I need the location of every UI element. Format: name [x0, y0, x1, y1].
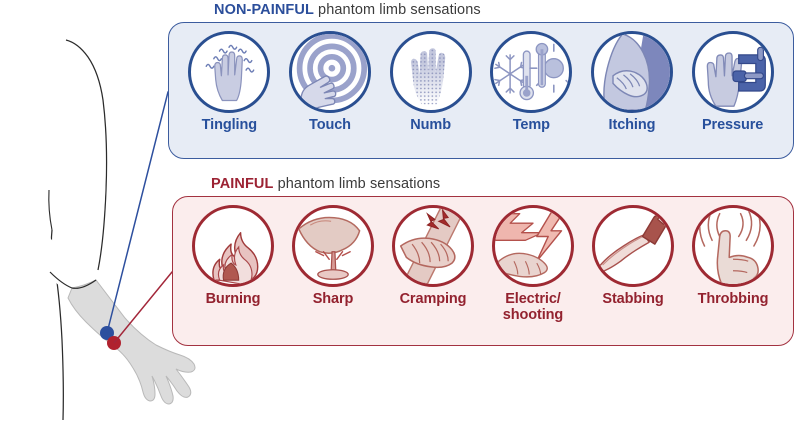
sensation-label: Throbbing — [698, 292, 769, 308]
panel-painful-sensations: Burning Sharp — [172, 196, 794, 346]
heading-painful: PAINFUL phantom limb sensations — [211, 176, 440, 192]
sensation-label-line1: Electric/ — [505, 291, 561, 307]
knife-icon — [592, 205, 674, 287]
hand-gripping-forearm-icon — [392, 205, 474, 287]
heading-nonpainful: NON-PAINFUL phantom limb sensations — [214, 2, 481, 18]
sensation-item-burning[interactable]: Burning — [183, 205, 283, 308]
sensation-label: Itching — [609, 118, 656, 134]
fingertip-on-pin-icon — [292, 205, 374, 287]
heading-nonpainful-keyword: NON-PAINFUL — [214, 2, 314, 18]
hand-scratching-arm-icon — [591, 31, 673, 113]
heading-painful-keyword: PAINFUL — [211, 176, 273, 192]
lightning-bolt-hand-icon — [492, 205, 574, 287]
sensation-label-line2: shooting — [503, 308, 563, 324]
sensation-label: Burning — [206, 292, 261, 308]
sensation-label: Temp — [513, 118, 550, 134]
panel-nonpainful-sensations: Tingling Touch — [168, 22, 794, 159]
sensation-item-tingling[interactable]: Tingling — [179, 31, 279, 134]
heading-nonpainful-rest: phantom limb sensations — [314, 2, 481, 18]
sensation-item-itching[interactable]: Itching — [582, 31, 682, 134]
sensation-label: Sharp — [313, 292, 354, 308]
hand-in-clamp-icon — [692, 31, 774, 113]
sensation-item-temp[interactable]: Temp — [481, 31, 581, 134]
sensation-item-touch[interactable]: Touch — [280, 31, 380, 134]
hand-stippled-icon — [390, 31, 472, 113]
sensation-label: Numb — [410, 118, 451, 134]
thumb-pulse-waves-icon — [692, 205, 774, 287]
flames-icon — [192, 205, 274, 287]
sensation-label: Cramping — [400, 292, 467, 308]
sensation-item-pressure[interactable]: Pressure — [683, 31, 783, 134]
sensation-label: Pressure — [702, 118, 763, 134]
hand-vibrating-icon — [188, 31, 270, 113]
sensation-label: Stabbing — [602, 292, 663, 308]
sensation-item-stabbing[interactable]: Stabbing — [583, 205, 683, 308]
sensation-label: Tingling — [202, 118, 257, 134]
painful-marker — [107, 336, 121, 350]
hand-pointing-ripples-icon — [289, 31, 371, 113]
sensation-item-sharp[interactable]: Sharp — [283, 205, 383, 308]
sensation-label: Touch — [309, 118, 351, 134]
infographic-canvas: NON-PAINFUL phantom limb sensations PAIN… — [0, 0, 800, 422]
sensation-label: Electric/ shooting — [503, 292, 563, 323]
heading-painful-rest: phantom limb sensations — [273, 176, 440, 192]
sensation-item-electric-shooting[interactable]: Electric/ shooting — [483, 205, 583, 323]
sensation-item-throbbing[interactable]: Throbbing — [683, 205, 783, 308]
thermometer-snowflake-sun-icon — [490, 31, 572, 113]
sensation-item-cramping[interactable]: Cramping — [383, 205, 483, 308]
sensation-item-numb[interactable]: Numb — [381, 31, 481, 134]
